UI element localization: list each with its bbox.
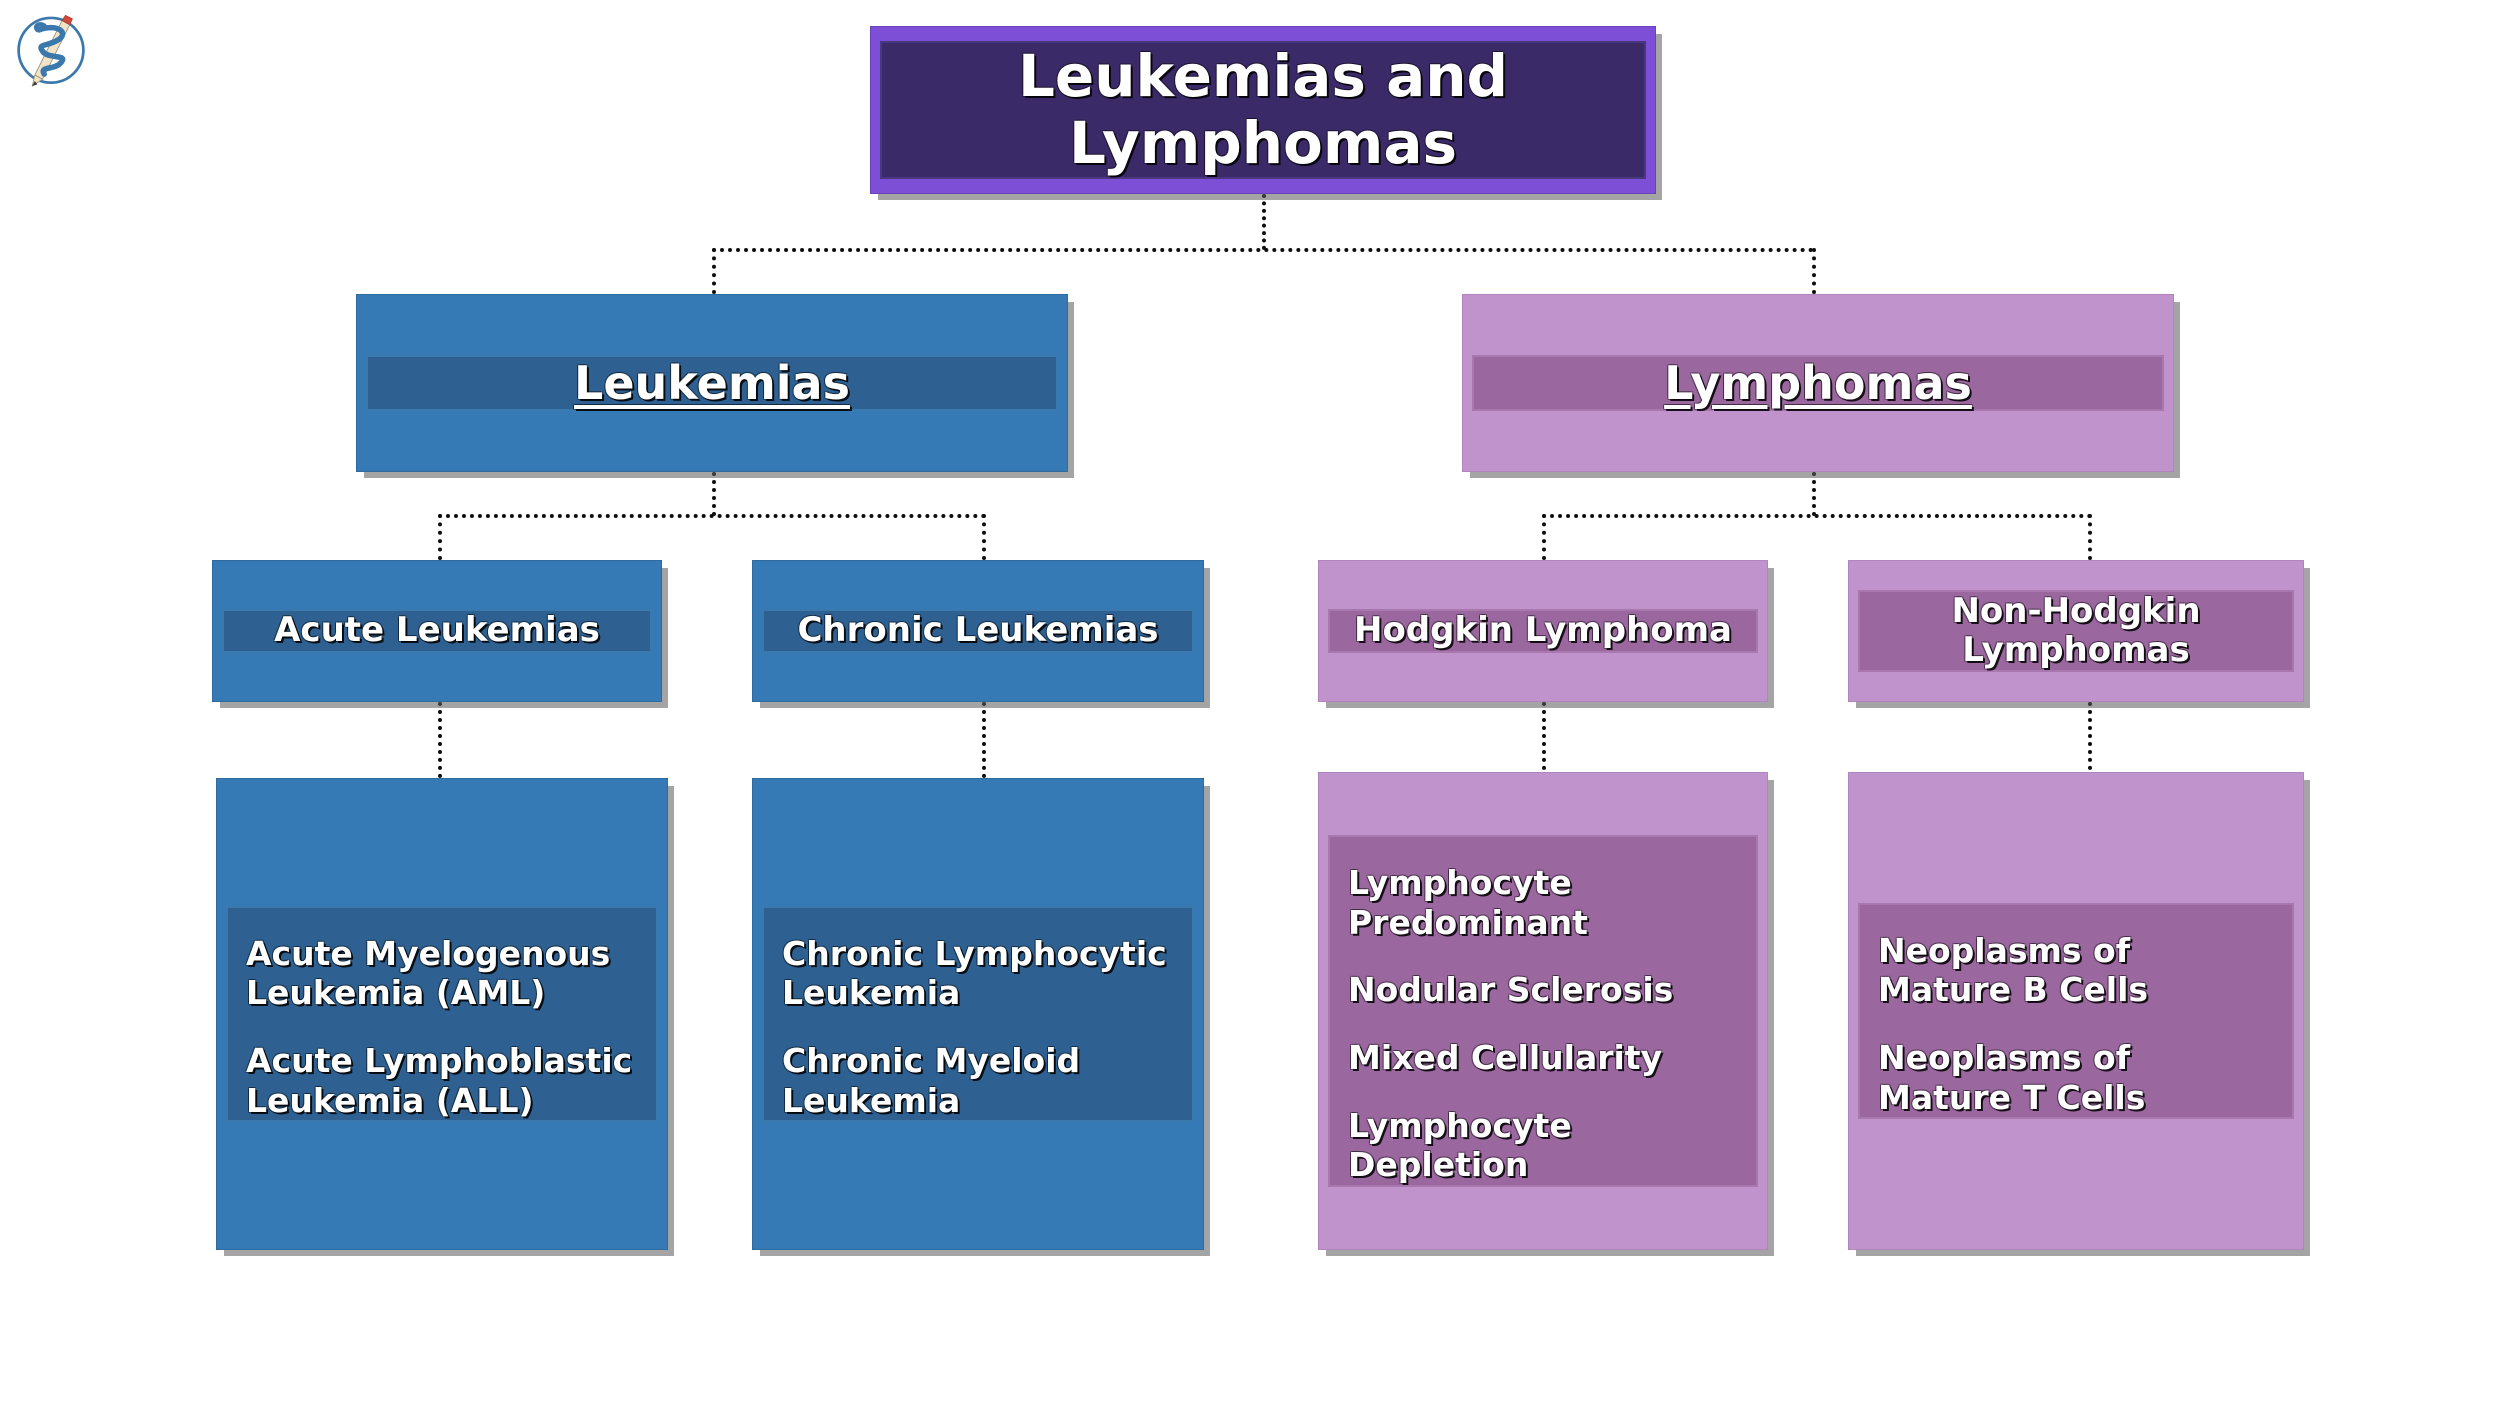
node-chronic-leukemias[interactable]: Chronic Leukemias (752, 560, 1204, 702)
node-non-hodgkin-lymphomas[interactable]: Non-Hodgkin Lymphomas (1848, 560, 2304, 702)
list-item: Acute Myelogenous Leukemia (AML) (228, 934, 656, 1013)
node-non-hodgkin-subtypes[interactable]: Neoplasms of Mature B Cells Neoplasms of… (1848, 772, 2304, 1250)
connector-to-leukemias (712, 248, 716, 294)
connector-nonhodgkin-to-leaf (2088, 702, 2092, 778)
connector-hodgkin-to-leaf (1542, 702, 1546, 778)
node-leukemias[interactable]: Leukemias (356, 294, 1068, 472)
node-hodgkin-lymphoma[interactable]: Hodgkin Lymphoma (1318, 560, 1768, 702)
node-lymphomas[interactable]: Lymphomas (1462, 294, 2174, 472)
caduceus-pencil-logo (8, 6, 94, 98)
list-item: Mixed Cellularity (1330, 1038, 1756, 1078)
diagram-canvas: Leukemias and Lymphomas Leukemias Lympho… (0, 0, 2500, 1406)
node-title-line1: Leukemias and (882, 43, 1644, 110)
connector-lymphomas-bus (1542, 514, 2092, 518)
node-non-hodgkin-label-line1: Non-Hodgkin (1860, 592, 2292, 631)
node-non-hodgkin-label-line2: Lymphomas (1860, 631, 2292, 670)
node-hodgkin-subtypes[interactable]: Lymphocyte Predominant Nodular Sclerosis… (1318, 772, 1768, 1250)
node-chronic-leukemias-label: Chronic Leukemias (764, 611, 1192, 650)
connector-to-chronic-leukemias (982, 514, 986, 560)
connector-top-bus (712, 248, 1814, 252)
connector-lymphomas-down (1812, 472, 1816, 516)
node-title[interactable]: Leukemias and Lymphomas (870, 26, 1656, 194)
node-acute-leukemias[interactable]: Acute Leukemias (212, 560, 662, 702)
node-chronic-leukemia-types[interactable]: Chronic Lymphocytic Leukemia Chronic Mye… (752, 778, 1204, 1250)
list-item: Acute Lymphoblastic Leukemia (ALL) (228, 1041, 656, 1120)
connector-to-lymphomas (1812, 248, 1816, 294)
connector-title-down (1262, 194, 1266, 250)
list-item: Chronic Myeloid Leukemia (764, 1041, 1192, 1120)
connector-chronic-to-leaf (982, 702, 986, 778)
list-item: Neoplasms of Mature B Cells (1860, 931, 2292, 1010)
node-lymphomas-label: Lymphomas (1474, 357, 2162, 410)
connector-to-non-hodgkin (2088, 514, 2092, 560)
list-item: Lymphocyte Depletion (1330, 1106, 1756, 1185)
node-acute-leukemias-label: Acute Leukemias (224, 611, 650, 650)
connector-acute-to-leaf (438, 702, 442, 778)
list-item: Chronic Lymphocytic Leukemia (764, 934, 1192, 1013)
node-leukemias-label: Leukemias (368, 357, 1056, 410)
connector-leukemias-bus (438, 514, 986, 518)
connector-to-acute-leukemias (438, 514, 442, 560)
list-item: Nodular Sclerosis (1330, 970, 1756, 1010)
node-title-line2: Lymphomas (882, 110, 1644, 177)
node-hodgkin-lymphoma-label: Hodgkin Lymphoma (1330, 611, 1756, 650)
connector-to-hodgkin (1542, 514, 1546, 560)
node-acute-leukemia-types[interactable]: Acute Myelogenous Leukemia (AML) Acute L… (216, 778, 668, 1250)
list-item: Lymphocyte Predominant (1330, 863, 1756, 942)
list-item: Neoplasms of Mature T Cells (1860, 1038, 2292, 1117)
connector-leukemias-down (712, 472, 716, 516)
